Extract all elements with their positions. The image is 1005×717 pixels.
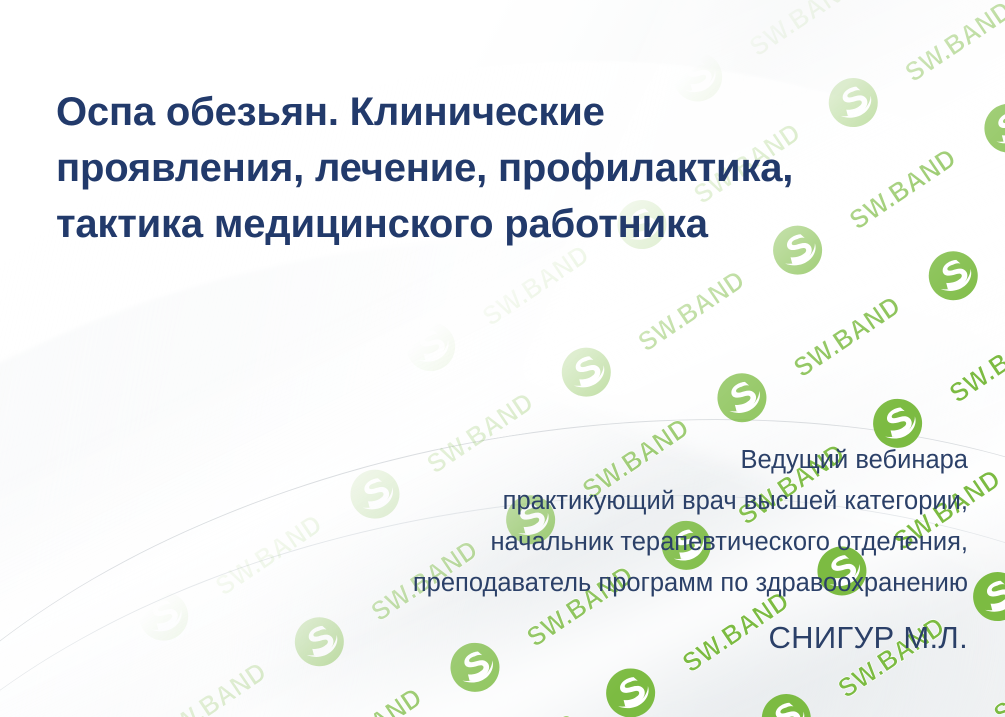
watermark-text: SW.BAND [55,483,173,577]
sw-band-s-logo-icon [0,84,58,160]
watermark-tile [0,517,86,665]
watermark-tile: SW.BAND [981,141,1005,289]
watermark-text: SW.BAND [0,0,28,82]
watermark-tile [30,690,186,717]
presentation-slide: SW.BANDSW.BANDSW.BANDSW.BANDSW.BANDSW.BA… [0,0,1005,717]
watermark-tile [153,0,309,74]
watermark-tile: SW.BAND [925,289,1005,437]
watermark-tile: SW.BAND [725,0,881,90]
watermark-tile: SW.BAND [970,609,1005,717]
watermark-text: SW.BAND [433,0,551,12]
watermark-tile: SW.BAND [0,603,136,717]
sw-band-s-logo-icon [592,655,668,717]
sw-band-s-logo-icon [181,430,257,506]
watermark-text: SW.BAND [466,707,584,717]
watermark-tile: SW.BAND [570,0,726,64]
watermark-tile: SW.BAND [614,237,770,385]
presenter-block: Ведущий вебинара практикующий врач высше… [248,440,968,664]
watermark-tile [197,247,353,395]
sw-band-s-logo-icon [81,257,157,333]
watermark-text: SW.BAND [477,239,595,333]
title-line: тактика медицинского работника [56,196,956,252]
watermark-tile: SW.BAND [91,308,247,456]
watermark-tile: SW.BAND [0,0,47,109]
watermark-text: SW.BAND [0,457,17,551]
presenter-line: практикующий врач высшей категории, [248,481,968,522]
sw-band-s-logo-icon [504,13,580,89]
watermark-text: SW.BAND [588,0,706,37]
sw-band-s-logo-icon [25,405,101,481]
watermark-tile [864,670,1005,717]
watermark-tile: SW.BAND [447,680,603,717]
watermark-tile [0,0,153,48]
watermark-tile: SW.BAND [414,0,570,39]
sw-band-s-logo-icon [0,231,2,307]
title-line: Оспа обезьян. Клинические [56,84,956,140]
presenter-line: начальник терапевтического отделения, [248,522,968,563]
watermark-tile [987,0,1005,54]
watermark-text: SW.BAND [0,630,117,717]
watermark-text: SW.BAND [0,309,73,403]
sw-band-s-logo-icon [37,0,113,13]
watermark-text: SW.BAND [310,681,428,717]
watermark-text: SW.BAND [788,290,906,384]
sw-band-s-logo-icon [0,552,46,628]
watermark-text: SW.BAND [988,636,1005,717]
presenter-line: Ведущий вебинара [248,440,968,481]
watermark-text: SW.BAND [744,0,862,63]
watermark-tile [675,0,831,3]
watermark-tile: SW.BAND [36,456,192,604]
watermark-tile [0,196,41,344]
presenter-name: СНИГУР М.Л. [248,612,968,664]
watermark-tile [975,375,1005,523]
sw-band-s-logo-icon [904,706,980,717]
watermark-text: SW.BAND [1000,168,1005,262]
sw-band-s-logo-icon [392,308,468,384]
presenter-line: преподаватель программ по здравоохранени… [248,563,968,604]
sw-band-s-logo-icon [237,283,313,359]
watermark-text: SW.BAND [110,335,228,429]
sw-band-s-logo-icon [348,0,424,64]
sw-band-s-logo-icon [548,334,624,410]
watermark-tile [831,0,987,29]
watermark-tile [0,664,30,717]
watermark-tile: SW.BAND [0,430,36,578]
sw-band-s-logo-icon [125,578,201,654]
watermark-text: SW.BAND [155,656,273,717]
watermark-tile [86,542,242,690]
watermark-tile: SW.BAND [770,263,926,411]
title-line: проявления, лечение, профилактика, [56,140,956,196]
watermark-tile: SW.BAND [603,706,759,717]
page-title: Оспа обезьян. Клинические проявления, ле… [56,84,956,252]
watermark-tile [353,273,509,421]
sw-band-s-logo-icon [192,0,268,38]
watermark-tile: SW.BAND [0,283,91,431]
sw-band-s-logo-icon [971,90,1005,166]
sw-band-s-logo-icon [704,359,780,435]
watermark-text: SW.BAND [633,264,751,358]
watermark-tile [0,369,141,517]
sw-band-s-logo-icon [748,680,824,717]
watermark-tile [508,298,664,446]
watermark-tile: SW.BAND [258,0,414,13]
watermark-text: SW.BAND [944,315,1005,409]
watermark-text: SW.BAND [900,0,1005,89]
